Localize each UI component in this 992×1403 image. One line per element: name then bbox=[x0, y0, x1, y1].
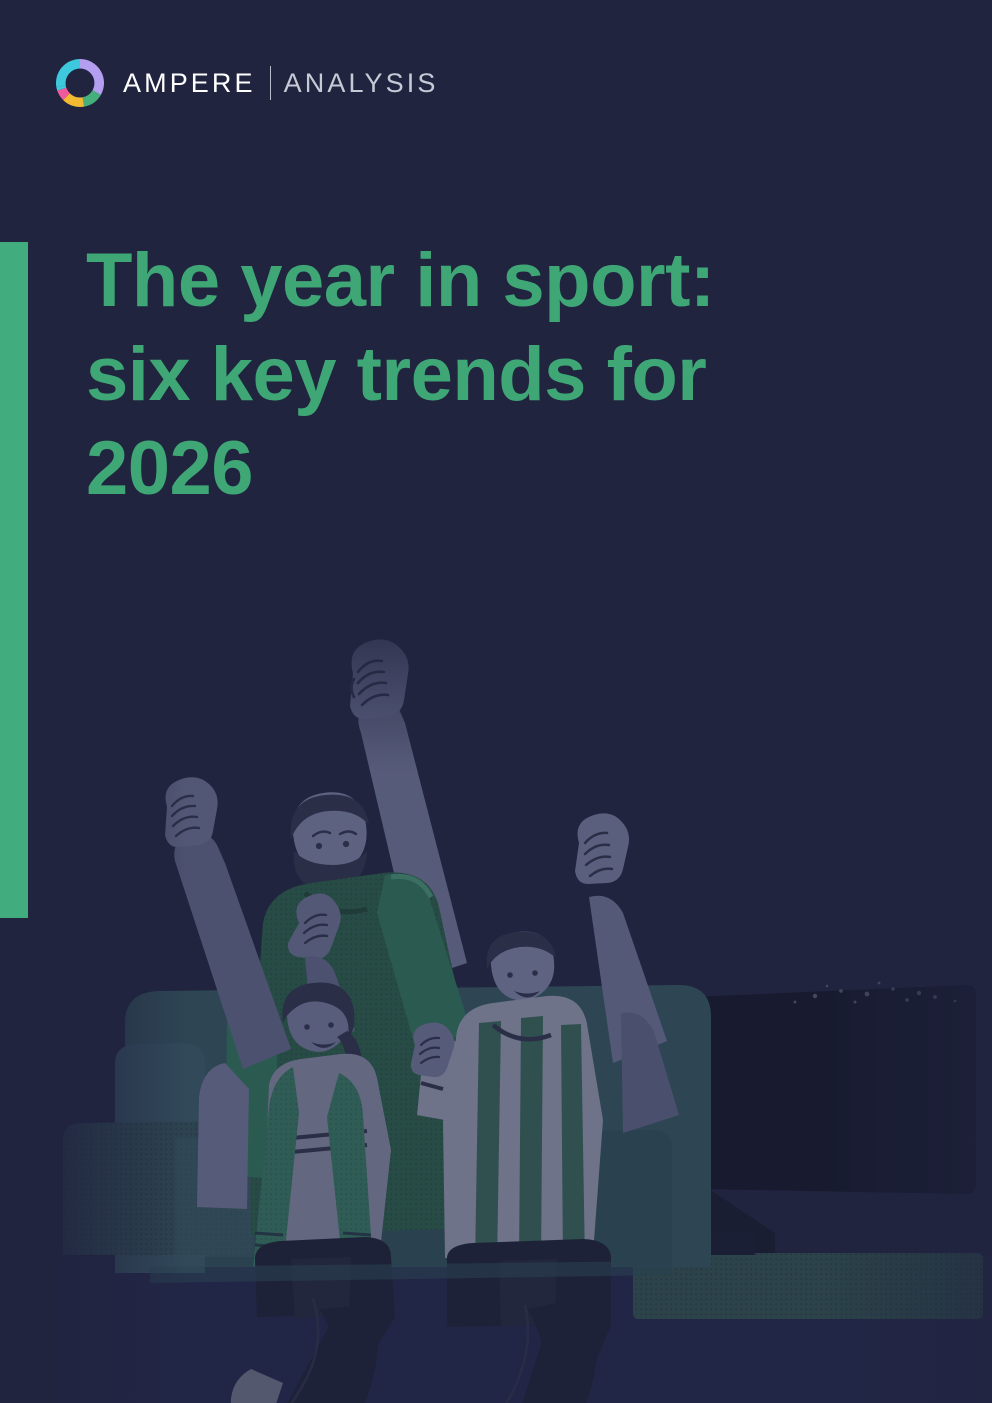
brand-name-ampere: AMPERE bbox=[123, 70, 256, 97]
brand-name-analysis: ANALYSIS bbox=[284, 70, 439, 97]
ampere-donut-logo-icon bbox=[55, 58, 105, 108]
brand-logo[interactable]: AMPERE ANALYSIS bbox=[55, 56, 438, 110]
cover-page: AMPERE ANALYSIS The year in sport: six k… bbox=[0, 0, 992, 1403]
left-accent-bar bbox=[0, 242, 28, 918]
brand-wordmark: AMPERE ANALYSIS bbox=[123, 58, 438, 108]
cover-illustration bbox=[55, 593, 992, 1403]
brand-divider bbox=[270, 66, 271, 100]
page-title: The year in sport: six key trends for 20… bbox=[86, 234, 846, 516]
sports-fans-watching-tv-illustration-icon bbox=[55, 593, 992, 1403]
